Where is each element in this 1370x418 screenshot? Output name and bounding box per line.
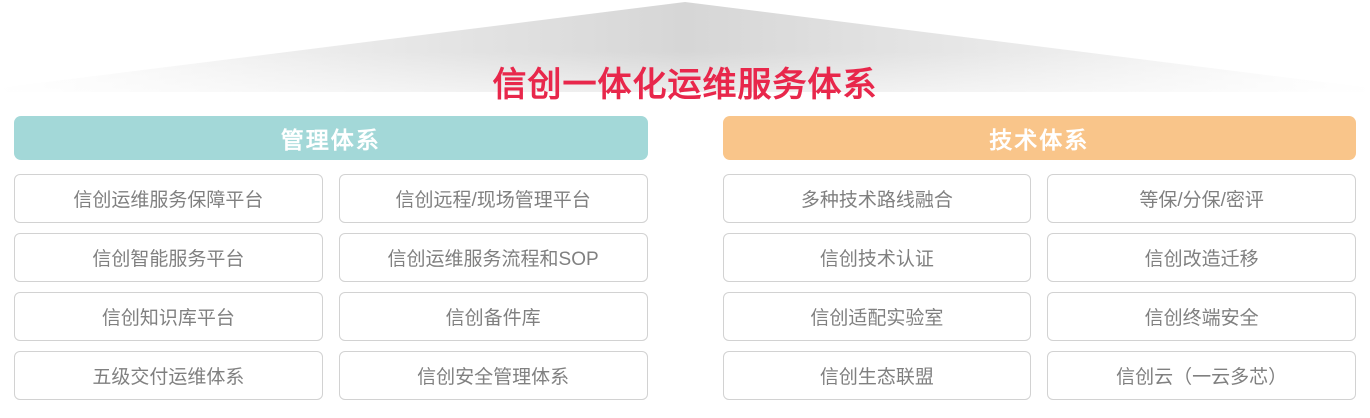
card-item[interactable]: 多种技术路线融合 (723, 174, 1032, 223)
card-item[interactable]: 信创远程/现场管理平台 (339, 174, 648, 223)
panel-header-management: 管理体系 (14, 116, 648, 160)
card-item[interactable]: 信创云（一云多芯） (1047, 351, 1356, 400)
card-grid-technology: 多种技术路线融合 等保/分保/密评 信创技术认证 信创改造迁移 信创适配实验室 … (723, 174, 1357, 400)
diagram-root: 信创一体化运维服务体系 管理体系 信创运维服务保障平台 信创远程/现场管理平台 … (0, 0, 1370, 418)
card-item[interactable]: 信创知识库平台 (14, 292, 323, 341)
panel-technology: 技术体系 多种技术路线融合 等保/分保/密评 信创技术认证 信创改造迁移 信创适… (723, 116, 1357, 418)
card-grid-management: 信创运维服务保障平台 信创远程/现场管理平台 信创智能服务平台 信创运维服务流程… (14, 174, 648, 400)
card-item[interactable]: 信创技术认证 (723, 233, 1032, 282)
card-item[interactable]: 信创运维服务流程和SOP (339, 233, 648, 282)
card-item[interactable]: 信创改造迁移 (1047, 233, 1356, 282)
card-item[interactable]: 等保/分保/密评 (1047, 174, 1356, 223)
card-item[interactable]: 信创安全管理体系 (339, 351, 648, 400)
page-title: 信创一体化运维服务体系 (0, 57, 1370, 106)
card-item[interactable]: 信创适配实验室 (723, 292, 1032, 341)
panel-header-technology: 技术体系 (723, 116, 1357, 160)
card-item[interactable]: 五级交付运维体系 (14, 351, 323, 400)
card-item[interactable]: 信创生态联盟 (723, 351, 1032, 400)
card-item[interactable]: 信创终端安全 (1047, 292, 1356, 341)
panel-management: 管理体系 信创运维服务保障平台 信创远程/现场管理平台 信创智能服务平台 信创运… (14, 116, 648, 418)
card-item[interactable]: 信创备件库 (339, 292, 648, 341)
card-item[interactable]: 信创智能服务平台 (14, 233, 323, 282)
card-item[interactable]: 信创运维服务保障平台 (14, 174, 323, 223)
panels-container: 管理体系 信创运维服务保障平台 信创远程/现场管理平台 信创智能服务平台 信创运… (0, 116, 1370, 418)
